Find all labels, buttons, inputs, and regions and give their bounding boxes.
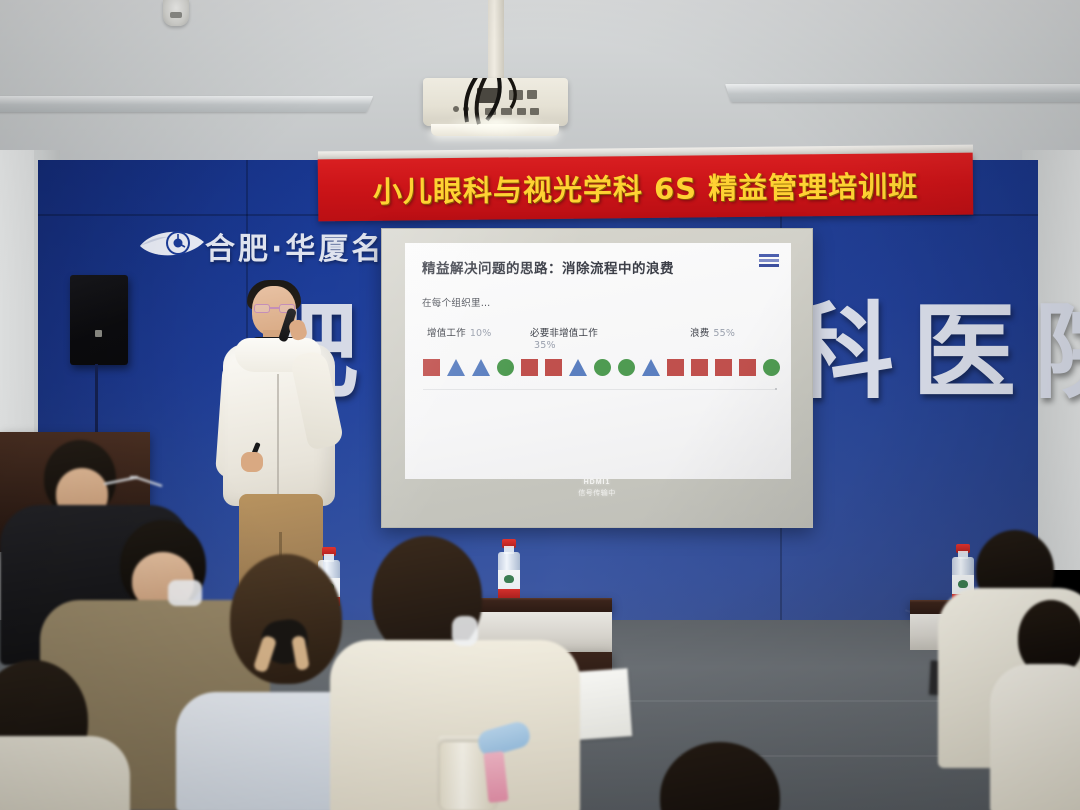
glyph-square — [667, 359, 684, 376]
ceiling-light-fixture — [0, 96, 373, 112]
face-mask-icon — [452, 616, 478, 646]
osd-source-label: HDMI1 — [382, 479, 812, 486]
slide-category-3: 浪费55% — [690, 328, 735, 340]
event-banner: 小儿眼科与视光学科 6S 精益管理培训班 — [318, 153, 974, 222]
glyph-square — [715, 359, 732, 376]
jacket-zipper — [277, 374, 279, 502]
presentation-slide: 精益解决问题的思路：消除流程中的浪费 在每个组织里… 增值工作10% 必要非增值… — [405, 243, 791, 479]
glyph-square — [691, 359, 708, 376]
ceiling-light-fixture — [725, 84, 1080, 102]
projection-screen: 精益解决问题的思路：消除流程中的浪费 在每个组织里… 增值工作10% 必要非增值… — [381, 228, 813, 528]
projector-mount-pole — [488, 0, 504, 78]
glasses-icon — [100, 470, 170, 510]
category-label: 浪费 — [690, 328, 709, 339]
glyph-circle — [763, 359, 780, 376]
slide-subtitle: 在每个组织里… — [422, 295, 491, 309]
slide-category-2: 必要非增值工作35% — [530, 328, 602, 352]
slide-divider — [423, 389, 775, 390]
presenter-left-hand — [241, 452, 263, 472]
glyph-circle — [594, 359, 611, 376]
eye-logo-icon — [138, 224, 206, 264]
glyph-circle — [618, 359, 635, 376]
glyph-triangle — [569, 359, 587, 376]
glyph-square — [521, 359, 538, 376]
projector-osd: HDMI1 信号传输中 — [382, 479, 812, 498]
category-percent: 35% — [534, 340, 556, 351]
glyph-square — [545, 359, 562, 376]
glyph-triangle — [472, 359, 490, 376]
banner-title-text: 小儿眼科与视光学科 6S 精益管理培训班 — [373, 163, 919, 211]
glyph-circle — [497, 359, 514, 376]
slide-category-1: 增值工作10% — [427, 328, 492, 340]
presenter — [205, 282, 355, 582]
zeiss-logo-icon — [759, 254, 779, 267]
glyph-square — [739, 359, 756, 376]
projector-lens-glow — [448, 118, 544, 138]
glyph-triangle — [447, 359, 465, 376]
wall-large-text-right: 科医院 — [790, 300, 1080, 404]
osd-status-label: 信号传输中 — [382, 488, 812, 498]
photo-scene: 合肥·华厦名人眼科医院 肥 科医院 小儿眼科与视光学科 6S 精益管理培训班 精… — [0, 0, 1080, 810]
wall-speaker-icon — [70, 275, 128, 365]
smoke-detector-icon — [163, 0, 189, 26]
water-bottle — [498, 540, 520, 598]
category-label: 必要非增值工作 — [530, 328, 598, 339]
slide-title: 精益解决问题的思路：消除流程中的浪费 — [422, 257, 674, 277]
glyph-triangle — [642, 359, 660, 376]
category-percent: 10% — [470, 328, 492, 339]
face-mask-icon — [168, 580, 202, 606]
category-label: 增值工作 — [427, 328, 466, 339]
slide-glyph-row — [423, 353, 775, 381]
glyph-square — [423, 359, 440, 376]
category-percent: 55% — [713, 328, 735, 339]
